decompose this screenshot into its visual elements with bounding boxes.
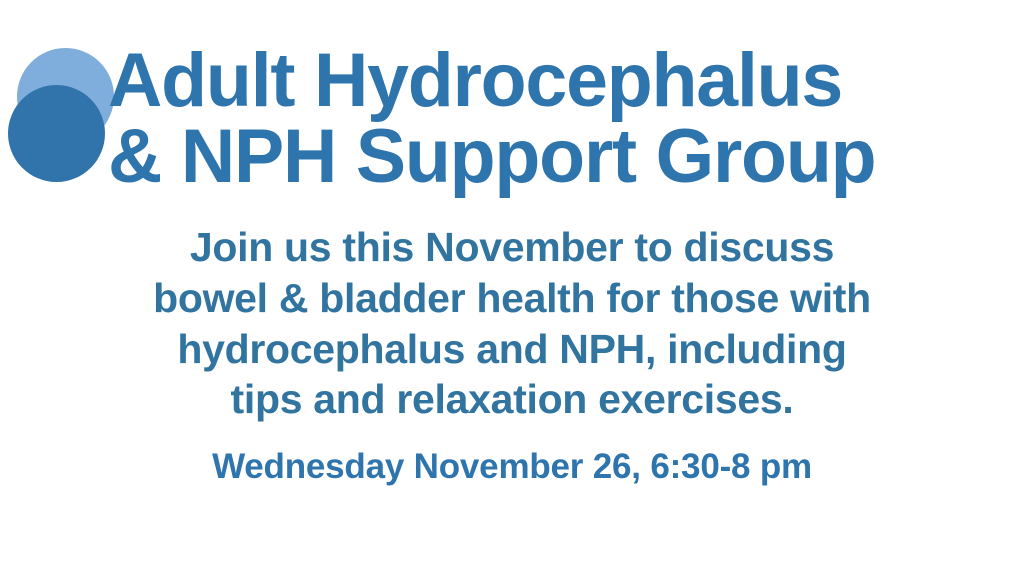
body-line-1: Join us this November to discuss	[0, 222, 1024, 273]
body-line-2: bowel & bladder health for those with	[0, 273, 1024, 324]
overlapping-circles-logo	[0, 35, 125, 175]
body-paragraph: Join us this November to discuss bowel &…	[0, 222, 1024, 425]
event-datetime-text: Wednesday November 26, 6:30-8 pm	[0, 446, 1024, 488]
dark-blue-circle-icon	[8, 85, 105, 182]
title-line-1: Adult Hydrocephalus	[108, 44, 979, 118]
poster-canvas: Adult Hydrocephalus & NPH Support Group …	[0, 0, 1024, 569]
body-line-3: hydrocephalus and NPH, including	[0, 324, 1024, 375]
title-line-2: & NPH Support Group	[108, 120, 979, 194]
body-line-4: tips and relaxation exercises.	[0, 374, 1024, 425]
event-datetime: Wednesday November 26, 6:30-8 pm	[0, 446, 1024, 488]
page-title: Adult Hydrocephalus & NPH Support Group	[108, 44, 988, 193]
